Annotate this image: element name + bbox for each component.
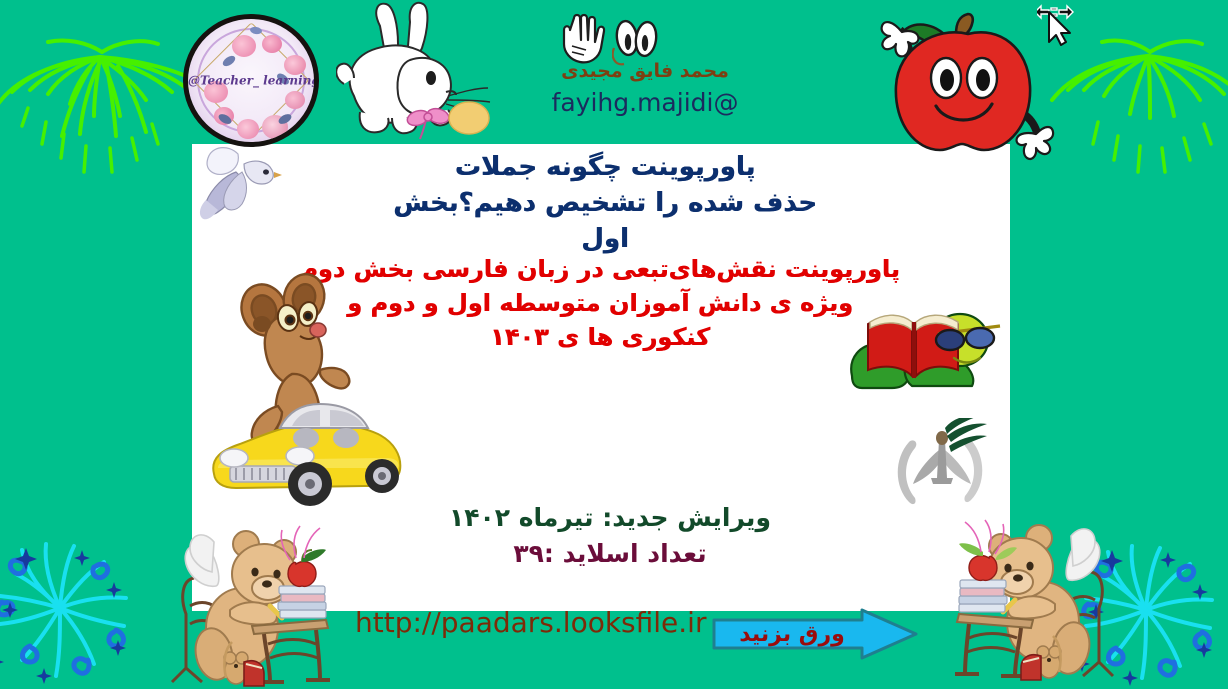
bookworm-icon	[846, 296, 1006, 396]
title-line-2: حذف شده را تشخیص دهیم؟بخش اول	[380, 186, 830, 258]
rabbit-icon	[336, 0, 496, 152]
slide-title: پاورپوینت چگونه جملات حذف شده را تشخیص د…	[380, 150, 830, 258]
badge-flower	[237, 119, 259, 139]
edition-line-2: تعداد اسلاید :۳۹	[400, 536, 820, 572]
slide-canvas: محمد فایق مجیدی fayihg.majidi@ @Teacher_…	[0, 0, 1228, 689]
edition-line-1: ویرایش جدید: تیرماه ۱۴۰۲	[400, 500, 820, 536]
next-slide-button[interactable]: ورق بزنید	[712, 608, 918, 660]
badge-flower	[232, 35, 256, 57]
move-cursor	[1037, 2, 1083, 46]
badge-flower	[262, 35, 282, 53]
edition-info: ویرایش جدید: تیرماه ۱۴۰۲ تعداد اسلاید :۳…	[400, 500, 820, 571]
mouse-and-car-icon	[196, 262, 416, 521]
badge-flower	[285, 91, 305, 109]
next-button-label: ورق بزنید	[712, 608, 872, 660]
apple-character-icon	[880, 8, 1055, 167]
firework-bottom-left-icon	[0, 528, 142, 688]
flying-dove-icon	[198, 142, 290, 234]
author-name: محمد فایق مجیدی	[520, 60, 770, 82]
badge-handle: @Teacher_ learning	[188, 73, 314, 87]
firework-top-left-icon	[0, 12, 210, 187]
badge-flower	[284, 55, 306, 75]
title-line-1: پاورپوینت چگونه جملات	[380, 150, 830, 186]
website-url[interactable]: http://paadars.looksfile.ir	[355, 606, 706, 639]
teddy-bear-right-icon	[955, 512, 1125, 688]
author-email: fayihg.majidi@	[520, 88, 770, 117]
teddy-bear-left-icon	[160, 518, 330, 689]
teacher-badge: @Teacher_ learning	[183, 14, 319, 147]
peace-dove-emblem-icon	[893, 418, 993, 512]
